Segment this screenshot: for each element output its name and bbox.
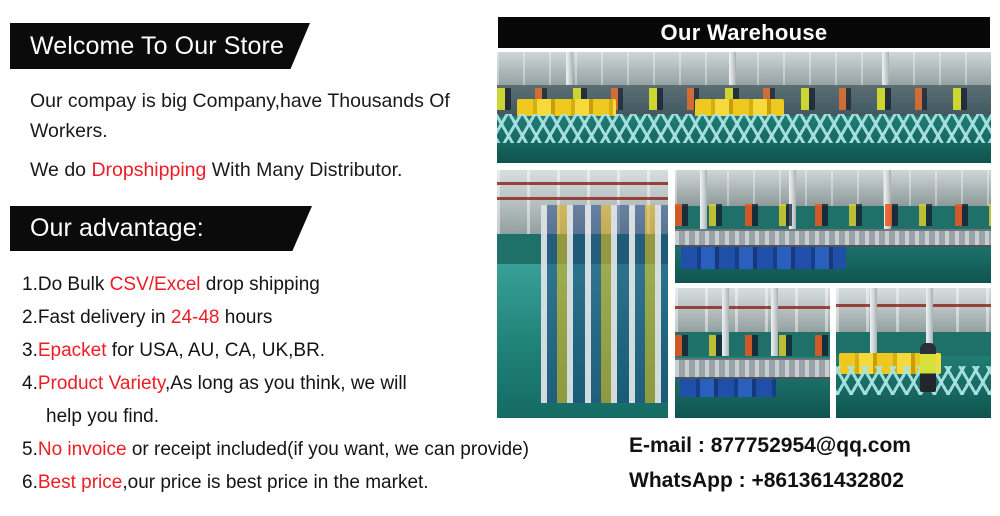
intro-paragraph-1: Our compay is big Company,have Thousands… — [30, 86, 500, 146]
store-banner-page: Welcome To Our Store Our compay is big C… — [0, 0, 1000, 516]
racking-detail — [541, 205, 668, 403]
advantage-banner-text: Our advantage: — [10, 214, 204, 243]
warehouse-packing-photo — [675, 288, 830, 418]
intro-paragraph-2: We do Dropshipping With Many Distributor… — [30, 155, 402, 185]
workers-detail — [675, 204, 991, 227]
advantage-item-2-number: 2. — [22, 307, 38, 328]
advantage-item-1-suffix: drop shipping — [200, 274, 319, 295]
whatsapp-line: WhatsApp : +861361432802 — [629, 463, 1000, 498]
advantage-item-5-suffix: or receipt included(if you want, we can … — [127, 439, 529, 460]
welcome-banner-text: Welcome To Our Store — [10, 32, 284, 61]
flexible-conveyor-detail — [836, 366, 991, 395]
advantage-item-5-highlight: No invoice — [38, 439, 127, 460]
worker-figure-detail — [920, 343, 936, 392]
left-column: Welcome To Our Store Our compay is big C… — [0, 0, 495, 516]
advantage-item-6-highlight: Best price — [38, 472, 122, 493]
intro-line-2-highlight: Dropshipping — [91, 159, 206, 181]
conveyor-belt-detail — [675, 229, 991, 247]
warehouse-banner-text: Our Warehouse — [661, 20, 828, 46]
advantage-item-2-suffix: hours — [220, 307, 273, 328]
advantage-item-3-suffix: for USA, AU, CA, UK,BR. — [107, 340, 326, 361]
email-label: E-mail : — [629, 434, 711, 457]
advantage-item-4-highlight: Product Variety — [38, 373, 165, 394]
intro-line-2-prefix: We do — [30, 159, 91, 181]
warehouse-racks-photo — [497, 170, 668, 418]
roof-beam-detail — [497, 197, 668, 200]
advantage-banner: Our advantage: — [10, 206, 312, 251]
advantage-item-5-number: 5. — [22, 439, 38, 460]
contact-block: E-mail : 877752954@qq.com WhatsApp : +86… — [629, 428, 1000, 498]
intro-line-2-suffix: With Many Distributor. — [206, 159, 402, 181]
roof-beam-detail — [836, 304, 991, 307]
advantage-item-6-number: 6. — [22, 472, 38, 493]
whatsapp-label: WhatsApp : — [629, 469, 751, 492]
roof-beam-detail — [675, 306, 830, 309]
advantage-item-3-highlight: Epacket — [38, 340, 107, 361]
advantage-item-2-prefix: Fast delivery in — [38, 307, 171, 328]
flexible-conveyor-detail — [497, 114, 991, 143]
advantage-item-3-number: 3. — [22, 340, 38, 361]
ceiling-detail — [836, 288, 991, 332]
warehouse-banner: Our Warehouse — [498, 17, 990, 48]
ceiling-detail — [675, 288, 830, 332]
advantage-item-1-highlight: CSV/Excel — [110, 274, 201, 295]
advantage-item-6-suffix: ,our price is best price in the market. — [122, 472, 428, 493]
advantage-item-4-number: 4. — [22, 373, 38, 394]
whatsapp-value[interactable]: +861361432802 — [751, 469, 903, 492]
advantage-item-1-number: 1. — [22, 274, 38, 295]
roof-beam-detail — [497, 182, 668, 185]
ceiling-detail — [675, 170, 991, 206]
conveyor-belt-detail — [675, 358, 830, 379]
email-line: E-mail : 877752954@qq.com — [629, 428, 1000, 463]
advantage-item-2-highlight: 24-48 — [171, 307, 220, 328]
advantage-item-4-suffix: ,As long as you think, we will — [165, 373, 407, 394]
warehouse-panorama-photo — [497, 52, 991, 163]
welcome-banner: Welcome To Our Store — [10, 23, 310, 69]
warehouse-worker-photo — [836, 288, 991, 418]
email-value[interactable]: 877752954@qq.com — [711, 434, 911, 457]
warehouse-conveyor-photo — [675, 170, 991, 283]
advantage-item-1-prefix: Do Bulk — [38, 274, 110, 295]
intro-line-1-text: Our compay is big Company,have Thousands… — [30, 90, 450, 142]
